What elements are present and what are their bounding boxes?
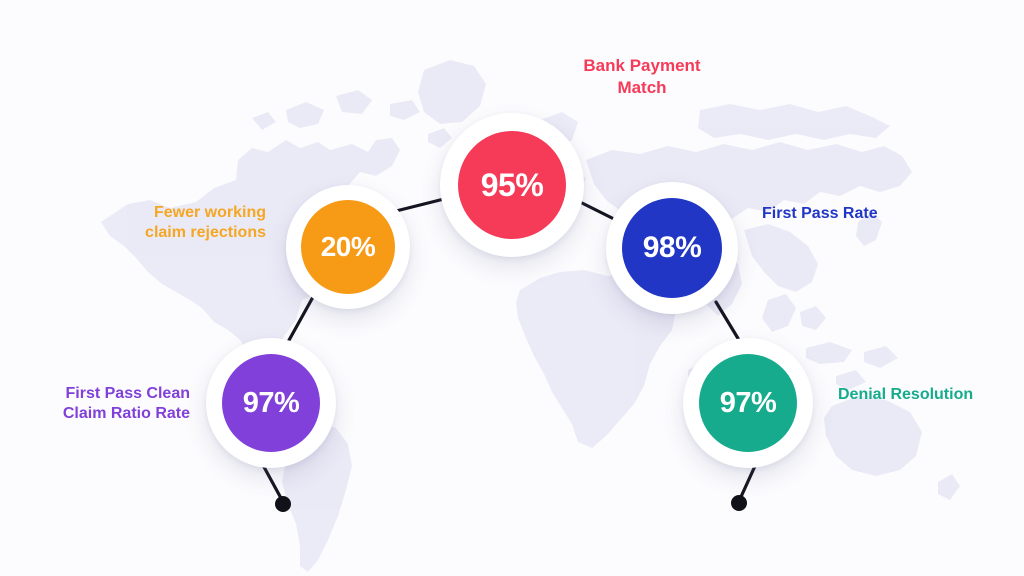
kpi-node-fewer-working-claim-rejections[interactable]: 20% xyxy=(286,185,410,309)
kpi-label-denial-resolution: Denial Resolution xyxy=(838,385,1024,405)
tail-teal xyxy=(740,466,755,499)
kpi-disc-first-pass-clean-claim-ratio-rate: 97% xyxy=(222,354,320,452)
tail-dots-group xyxy=(275,495,747,512)
link-orange-red xyxy=(392,198,448,212)
kpi-label-first-pass-clean-claim-ratio-rate: First Pass Clean Claim Ratio Rate xyxy=(0,384,190,425)
kpi-value-denial-resolution: 97% xyxy=(720,389,777,418)
kpi-value-bank-payment-match: 95% xyxy=(481,169,544,201)
kpi-node-bank-payment-match[interactable]: 95% xyxy=(440,113,584,257)
tail-purple xyxy=(264,467,282,500)
kpi-disc-bank-payment-match: 95% xyxy=(458,131,566,239)
kpi-value-first-pass-clean-claim-ratio-rate: 97% xyxy=(243,389,300,418)
kpi-label-bank-payment-match: Bank Payment Match xyxy=(512,55,772,99)
kpi-node-first-pass-rate[interactable]: 98% xyxy=(606,182,738,314)
kpi-disc-first-pass-rate: 98% xyxy=(622,198,722,298)
kpi-label-first-pass-rate: First Pass Rate xyxy=(762,204,1022,224)
kpi-label-fewer-working-claim-rejections: Fewer working claim rejections xyxy=(4,203,266,244)
tail-dot-right xyxy=(731,495,747,511)
kpi-node-denial-resolution[interactable]: 97% xyxy=(683,338,813,468)
tail-dot-left xyxy=(275,496,291,512)
kpi-node-first-pass-clean-claim-ratio-rate[interactable]: 97% xyxy=(206,338,336,468)
link-orange-purple xyxy=(288,297,313,342)
infographic-canvas: 95%Bank Payment Match20%Fewer working cl… xyxy=(0,0,1024,576)
kpi-disc-fewer-working-claim-rejections: 20% xyxy=(301,200,395,294)
kpi-disc-denial-resolution: 97% xyxy=(699,354,797,452)
kpi-value-first-pass-rate: 98% xyxy=(643,233,702,263)
kpi-value-fewer-working-claim-rejections: 20% xyxy=(321,233,376,261)
